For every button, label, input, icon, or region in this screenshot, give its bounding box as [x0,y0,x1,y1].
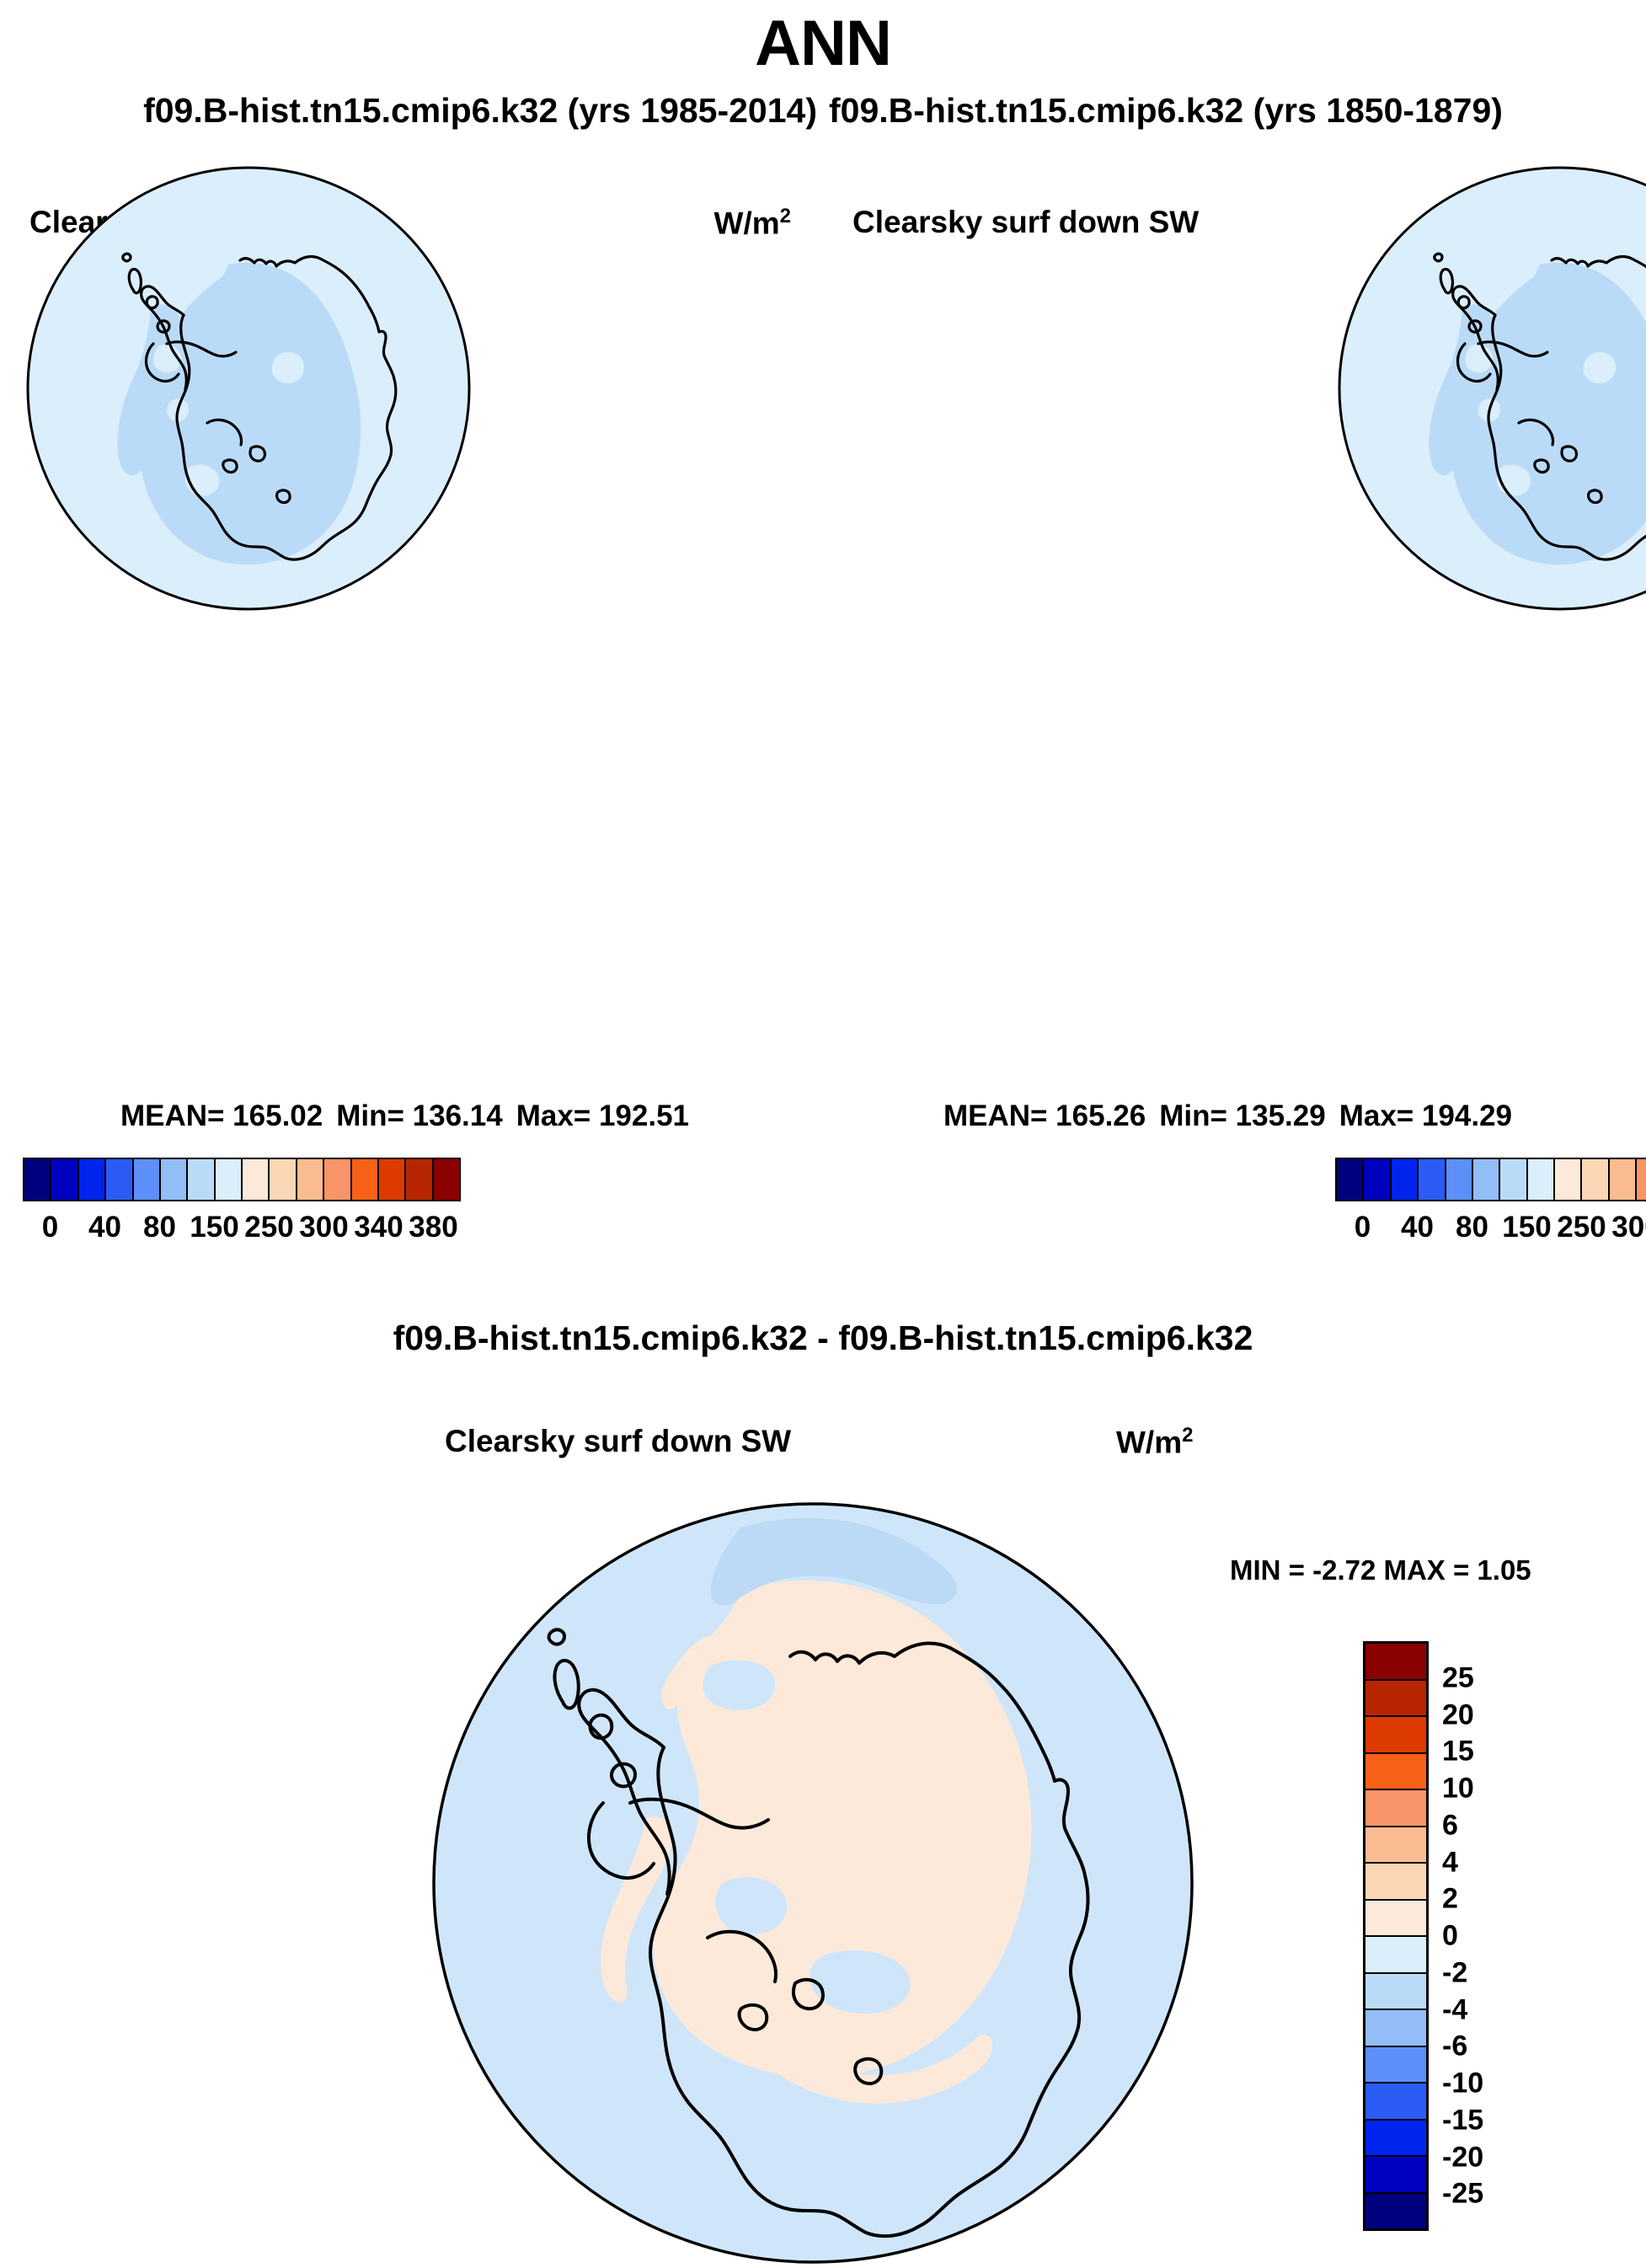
panel-stats: MEAN= 165.02Min= 136.14Max= 192.51 [0,1099,823,1133]
colorbar-tick-label: 0 [1355,1211,1371,1244]
colorbar-tick-label: 250 [1557,1211,1606,1244]
colorbar-cell [1365,2083,1426,2121]
colorbar-cell [161,1159,188,1200]
colorbar-tick-label: 15 [1442,1736,1474,1768]
colorbar-cell [1337,1159,1364,1200]
colorbar-cell [1473,1159,1500,1200]
colorbar-tick-label: -20 [1442,2141,1483,2174]
colorbar-cell [134,1159,161,1200]
colorbar-cell [1365,1864,1426,1901]
colorbar-cell [324,1159,351,1200]
difference-title: f09.B-hist.tn15.cmip6.k32 - f09.B-hist.t… [0,1319,1646,1358]
colorbar-tick-label: 80 [143,1211,176,1244]
colorbar-tick-label: 380 [409,1211,457,1244]
colorbar-cell [434,1159,459,1200]
colorbar-cell [1500,1159,1527,1200]
colorbar-cell [1364,1159,1391,1200]
colorbar-tick-label: 0 [1442,1920,1458,1953]
colorbar-horizontal-test [23,1158,461,1201]
colorbar-tick-label: 80 [1456,1211,1488,1244]
antarctic-map-difference [430,1500,1196,2266]
colorbar-cell [243,1159,270,1200]
colorbar-tick-label: -15 [1442,2104,1483,2137]
contour-hole-a [1584,352,1616,383]
colorbar-cell [1610,1159,1637,1200]
colorbar-tick-label: -25 [1442,2178,1483,2211]
colorbar-cell [379,1159,406,1200]
colorbar-tick-label: -2 [1442,1956,1467,1989]
colorbar-tick-label: 4 [1442,1846,1458,1879]
colorbar-cell [297,1159,324,1200]
difference-minmax-label: MIN = -2.72 MAX = 1.05 [1230,1554,1531,1586]
panel-units-label: W/m2 [714,205,791,241]
colorbar-horizontal-labels-test: 04080150250300340380 [23,1211,461,1248]
colorbar-tick-label: 10 [1442,1773,1474,1805]
stat-mean: MEAN= 165.26 [943,1099,1146,1132]
colorbar-tick-label: 300 [299,1211,348,1244]
colorbar-tick-label: 340 [354,1211,403,1244]
colorbar-vertical-labels: 252015106420-2-4-6-10-15-20-25 [1442,1641,1560,2231]
colorbar-cell [270,1159,297,1200]
stat-max: Max= 192.51 [516,1099,689,1132]
units-exponent: 2 [780,205,791,227]
colorbar-tick-label: -4 [1442,1993,1467,2026]
antarctic-map-test [25,165,472,612]
colorbar-cell [1637,1159,1646,1200]
antarctic-map-svg-difference [430,1500,1196,2266]
panel-control-case: Clearsky surf down SW W/m2 [823,0,1646,1297]
colorbar-tick-label: 150 [190,1211,238,1244]
colorbar-cell [1365,1827,1426,1864]
colorbar-cell [1365,1754,1426,1791]
colorbar-tick-label: 250 [244,1211,293,1244]
colorbar-cell [1419,1159,1446,1200]
contour-hole-sea-a [703,1660,775,1710]
colorbar-cell [79,1159,106,1200]
antarctic-map-svg-test [25,165,472,612]
colorbar-tick-label: 40 [1401,1211,1434,1244]
colorbar-vertical-difference [1363,1641,1429,2231]
colorbar-cell [1446,1159,1473,1200]
colorbar-cell [1365,1901,1426,1938]
antarctic-map-svg-control [1337,165,1646,612]
colorbar-cell [1365,1790,1426,1827]
units-text: W/m [1116,1425,1182,1459]
figure-page: ANN f09.B-hist.tn15.cmip6.k32 (yrs 1985-… [0,0,1646,2268]
colorbar-cell [24,1159,51,1200]
colorbar-cell [1365,1937,1426,1974]
colorbar-cell [352,1159,379,1200]
colorbar-cell [1365,2047,1426,2084]
colorbar-tick-label: -6 [1442,2030,1467,2063]
units-exponent: 2 [1182,1424,1193,1447]
stat-mean: MEAN= 165.02 [120,1099,323,1132]
colorbar-horizontal-labels-control: 04080150250300340380 [1335,1211,1646,1248]
colorbar-cell [1365,1681,1426,1718]
colorbar-cell [51,1159,78,1200]
units-text: W/m [714,206,780,240]
colorbar-tick-label: -10 [1442,2067,1483,2100]
colorbar-cell [1365,1717,1426,1754]
panel-variable-name: Clearsky surf down SW [852,205,1199,240]
colorbar-tick-label: 25 [1442,1661,1474,1694]
colorbar-cell [406,1159,433,1200]
stat-max: Max= 194.29 [1339,1099,1512,1132]
contour-hole-a [272,352,304,383]
antarctic-map-control [1337,165,1646,612]
colorbar-tick-label: 40 [88,1211,121,1244]
difference-units-label: W/m2 [1116,1424,1193,1460]
colorbar-cell [1582,1159,1609,1200]
colorbar-cell [1365,2121,1426,2158]
colorbar-cell [1365,2010,1426,2047]
colorbar-cell [1528,1159,1555,1200]
colorbar-cell [216,1159,243,1200]
colorbar-tick-label: 6 [1442,1809,1458,1842]
colorbar-cell [1365,2157,1426,2194]
colorbar-cell [1365,1974,1426,2011]
colorbar-cell [1555,1159,1582,1200]
colorbar-cell [1365,1644,1426,1681]
colorbar-horizontal-control [1335,1158,1646,1201]
panel-stats: MEAN= 165.26Min= 135.29Max= 194.29 [823,1099,1646,1133]
colorbar-cell [1365,2194,1426,2229]
difference-variable-name: Clearsky surf down SW [445,1424,791,1459]
stat-min: Min= 136.14 [336,1099,502,1132]
stat-min: Min= 135.29 [1159,1099,1325,1132]
colorbar-tick-label: 150 [1502,1211,1551,1244]
colorbar-tick-label: 2 [1442,1883,1458,1916]
colorbar-tick-label: 0 [42,1211,58,1244]
colorbar-tick-label: 20 [1442,1698,1474,1731]
colorbar-tick-label: 300 [1611,1211,1646,1244]
panel-test-case: Clearsky surf down SW W/m2 [0,0,823,1297]
colorbar-cell [1392,1159,1419,1200]
colorbar-cell [188,1159,215,1200]
colorbar-cell [106,1159,133,1200]
